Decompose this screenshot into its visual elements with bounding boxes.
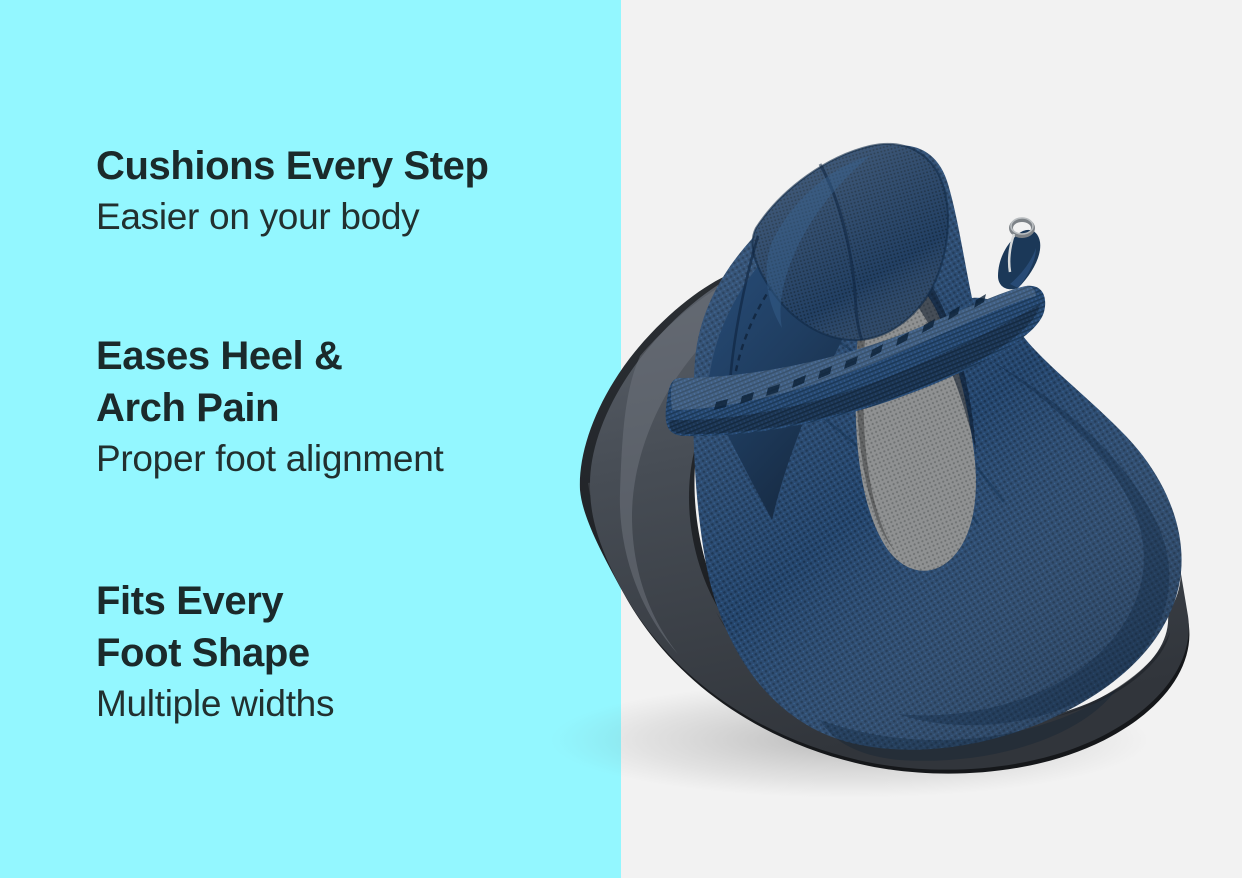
feature-title: Cushions Every Step [96,140,489,192]
feature-item-heel-arch: Eases Heel & Arch Pain Proper foot align… [96,330,443,484]
feature-subtitle: Multiple widths [96,679,334,729]
feature-title: Eases Heel & Arch Pain [96,330,443,434]
feature-title: Fits Every Foot Shape [96,575,334,679]
feature-subtitle: Proper foot alignment [96,434,443,484]
feature-item-fit: Fits Every Foot Shape Multiple widths [96,575,334,729]
feature-subtitle: Easier on your body [96,192,489,242]
product-image [520,60,1220,820]
feature-banner: Cushions Every Step Easier on your body … [0,0,1242,878]
feature-list: Cushions Every Step Easier on your body … [96,0,596,878]
feature-item-cushions: Cushions Every Step Easier on your body [96,140,489,242]
